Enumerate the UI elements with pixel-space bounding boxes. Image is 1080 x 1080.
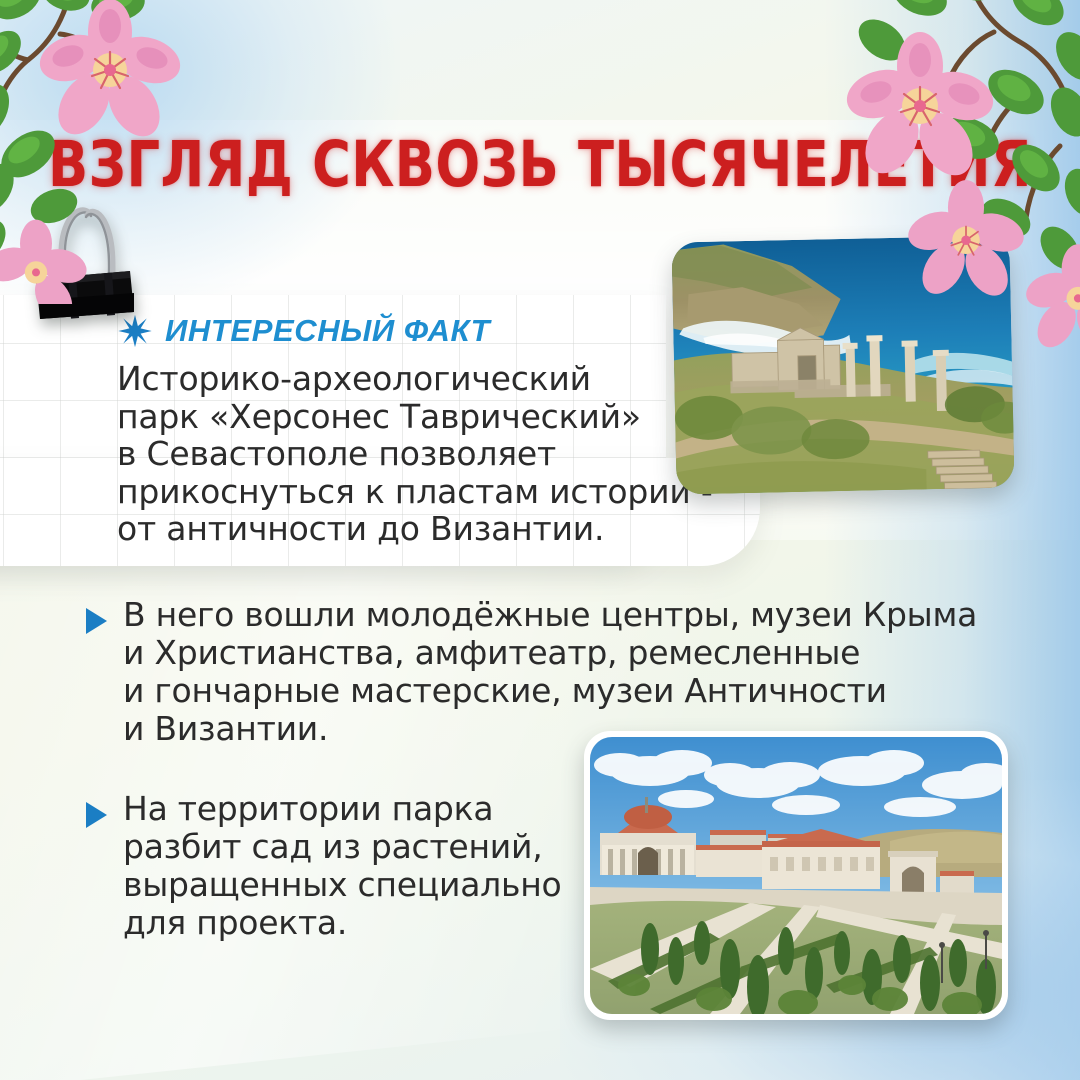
fact-line: в Севастополе позволяет (117, 435, 727, 473)
fact-body-text: Историко-археологический парк «Херсонес … (117, 360, 727, 548)
triangle-bullet-icon (86, 802, 107, 828)
list-line: для проекта. (123, 904, 562, 942)
fact-line: Историко-археологический (117, 360, 727, 398)
list-line: и гончарные мастерские, музеи Античности (123, 672, 977, 710)
list-item: На территории парка разбит сад из растен… (86, 790, 986, 942)
fact-line: от античности до Византии. (117, 510, 727, 548)
list-line: и Христианства, амфитеатр, ремесленные (123, 634, 977, 672)
binder-clip-icon (30, 200, 146, 320)
fact-line: прикоснуться к пластам истории - (117, 473, 727, 511)
list-line: выращенных специально (123, 866, 562, 904)
triangle-bullet-icon (86, 608, 107, 634)
list-line: В него вошли молодёжные центры, музеи Кр… (123, 596, 977, 634)
list-item-text: На территории парка разбит сад из растен… (123, 790, 562, 942)
fact-line: парк «Херсонес Таврический» (117, 398, 727, 436)
list-item-text: В него вошли молодёжные центры, музеи Кр… (123, 596, 977, 748)
page-title: ВЗГЛЯД СКВОЗЬ ТЫСЯЧЕЛЕТИЯ (38, 128, 1042, 201)
bullet-list: В него вошли молодёжные центры, музеи Кр… (86, 596, 986, 984)
chersonesus-ruins-photo (671, 235, 1014, 494)
list-item: В него вошли молодёжные центры, музеи Кр… (86, 596, 986, 748)
fact-heading: ИНТЕРЕСНЫЙ ФАКТ (118, 313, 490, 349)
list-line: На территории парка (123, 790, 562, 828)
fact-heading-label: ИНТЕРЕСНЫЙ ФАКТ (165, 313, 490, 349)
list-line: и Византии. (123, 710, 977, 748)
poster-canvas: ВЗГЛЯД СКВОЗЬ ТЫСЯЧЕЛЕТИЯ ИНТЕРЕСНЫЙ ФАК… (0, 0, 1080, 1080)
list-line: разбит сад из растений, (123, 828, 562, 866)
